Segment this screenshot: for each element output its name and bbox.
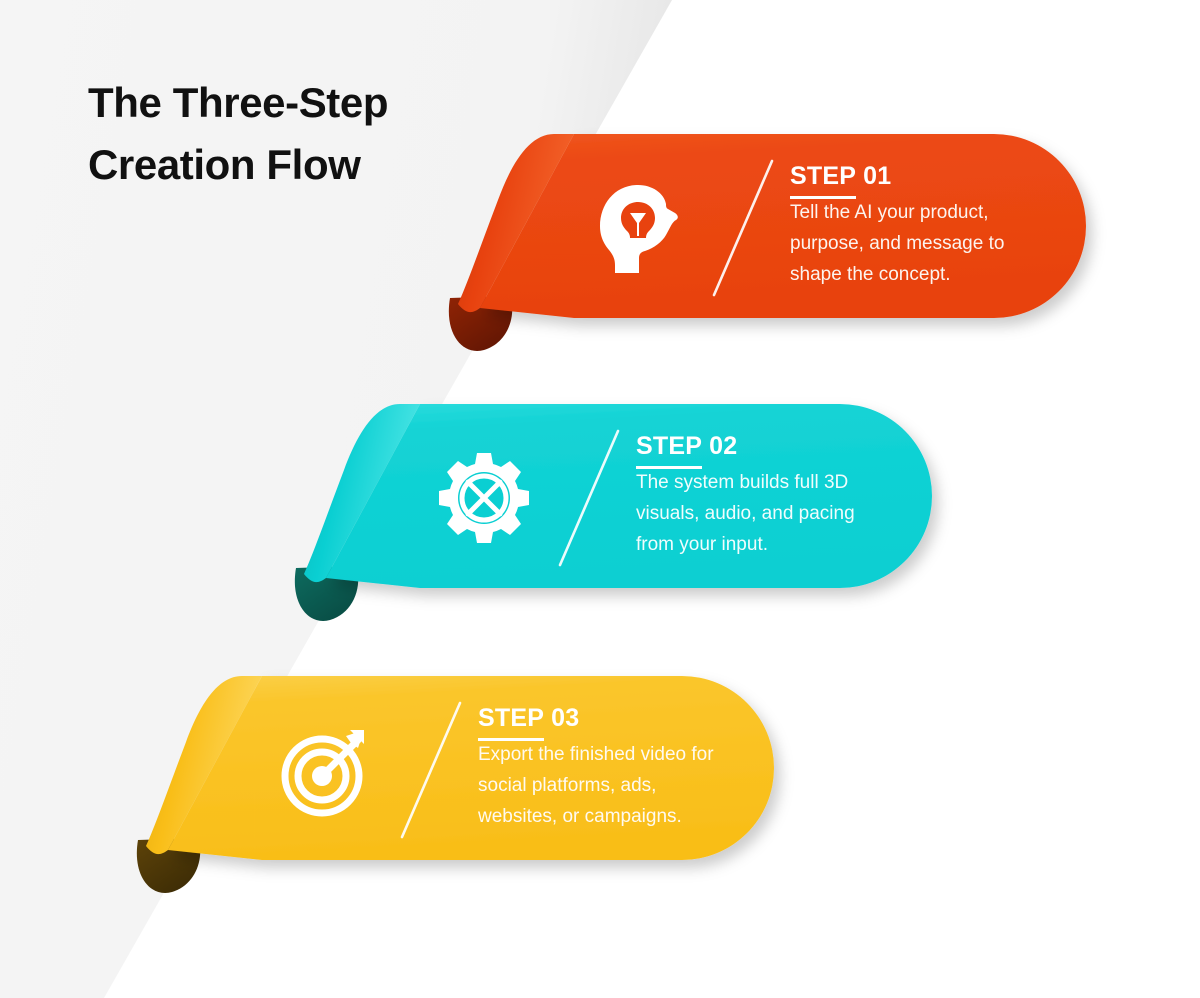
step-card-step-03[interactable]: STEP03 Export the finished video for soc… xyxy=(130,670,790,905)
step-heading-step-02: STEP02 xyxy=(636,434,886,459)
target-arrow-icon xyxy=(266,710,386,830)
divider-slash-step-03 xyxy=(386,695,478,845)
step-content-step-02: STEP02 The system builds full 3D visuals… xyxy=(424,420,886,575)
step-description-step-03: Export the finished video for social pla… xyxy=(478,740,728,832)
divider-slash-step-01 xyxy=(698,153,790,303)
step-label-step-01: STEP xyxy=(790,162,856,199)
step-card-step-01[interactable]: STEP01 Tell the AI your product, purpose… xyxy=(442,128,1102,363)
page-title-line-1: The Three-Step xyxy=(88,72,508,134)
step-text-step-02: STEP02 The system builds full 3D visuals… xyxy=(636,434,886,560)
step-content-step-01: STEP01 Tell the AI your product, purpose… xyxy=(578,150,1040,305)
step-number-step-01: 01 xyxy=(863,162,891,190)
step-text-step-01: STEP01 Tell the AI your product, purpose… xyxy=(790,164,1040,290)
step-content-step-03: STEP03 Export the finished video for soc… xyxy=(266,692,728,847)
step-label-step-02: STEP xyxy=(636,432,702,469)
step-description-step-01: Tell the AI your product, purpose, and m… xyxy=(790,198,1040,290)
step-number-step-03: 03 xyxy=(551,704,579,732)
step-text-step-03: STEP03 Export the finished video for soc… xyxy=(478,706,728,832)
page-title-line-2: Creation Flow xyxy=(88,134,508,196)
step-description-step-02: The system builds full 3D visuals, audio… xyxy=(636,468,886,560)
page-title: The Three-Step Creation Flow xyxy=(88,72,508,196)
step-number-step-02: 02 xyxy=(709,432,737,460)
step-heading-step-03: STEP03 xyxy=(478,706,728,731)
head-lightbulb-icon xyxy=(578,168,698,288)
step-card-step-02[interactable]: STEP02 The system builds full 3D visuals… xyxy=(288,398,948,633)
divider-slash-step-02 xyxy=(544,423,636,573)
gear-icon xyxy=(424,438,544,558)
step-heading-step-01: STEP01 xyxy=(790,164,1040,189)
step-label-step-03: STEP xyxy=(478,704,544,741)
infographic-canvas: The Three-Step Creation Flow xyxy=(0,0,1200,998)
